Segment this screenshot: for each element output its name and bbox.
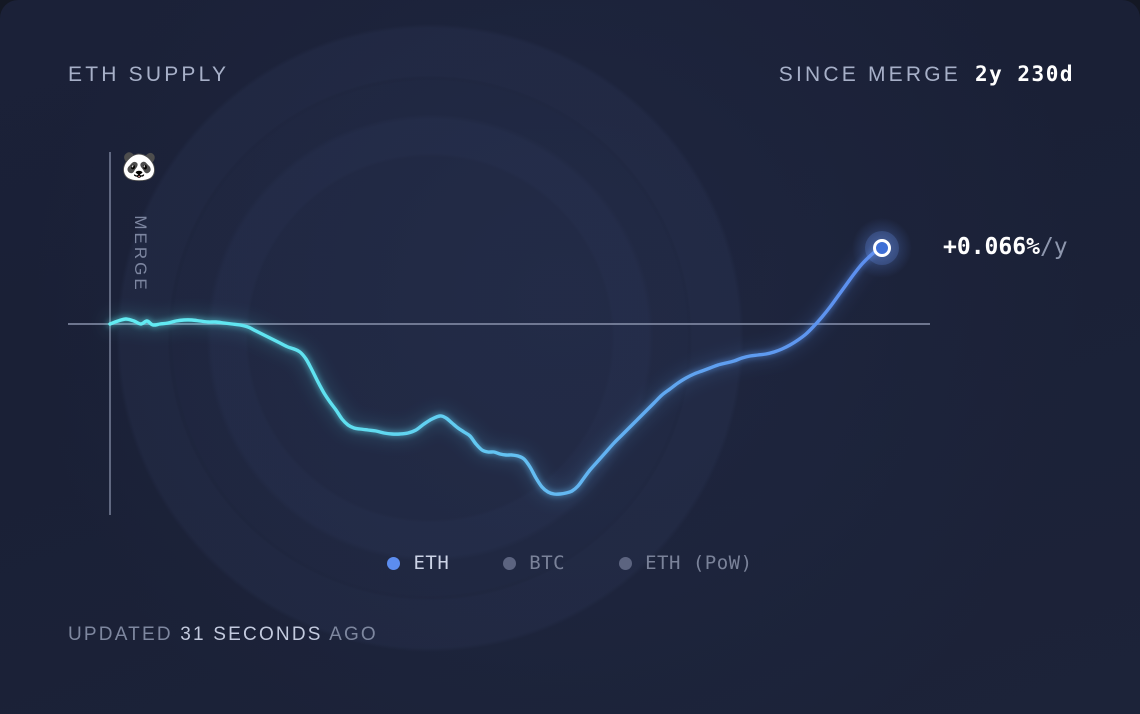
merge-label: MERGE xyxy=(130,204,150,304)
legend-label: BTC xyxy=(529,552,565,574)
since-merge-value: 2y 230d xyxy=(975,62,1074,86)
panda-face-icon: 🐼 xyxy=(121,152,157,181)
endpoint-dot xyxy=(875,241,890,256)
legend-item-eth[interactable]: ETH xyxy=(387,552,449,574)
eth-line-glow-outer xyxy=(110,248,882,494)
legend-dot-icon xyxy=(619,557,632,570)
eth-supply-chart xyxy=(0,0,1140,714)
legend-label: ETH xyxy=(413,552,449,574)
endpoint-halo-outer xyxy=(852,218,912,278)
last-updated-status: UPDATED 31 SECONDS AGO xyxy=(68,624,378,646)
legend-label: ETH (PoW) xyxy=(645,552,752,574)
updated-prefix: UPDATED xyxy=(68,624,173,645)
eth-supply-line xyxy=(110,248,882,494)
endpoint-value-label: +0.066%/y xyxy=(943,234,1068,260)
eth-line-glow-inner xyxy=(110,248,882,494)
endpoint-halo-inner xyxy=(865,231,899,265)
merge-marker: 🐼 MERGE xyxy=(118,152,168,312)
eth-supply-card: ETH SUPPLY SINCE MERGE 2y 230d xyxy=(0,0,1140,714)
endpoint-unit: /y xyxy=(1040,234,1068,260)
legend-dot-icon xyxy=(387,557,400,570)
legend-item-btc[interactable]: BTC xyxy=(503,552,565,574)
updated-value: 31 SECONDS xyxy=(180,624,322,645)
legend-item-eth-pow[interactable]: ETH (PoW) xyxy=(619,552,752,574)
page-title: ETH SUPPLY xyxy=(68,63,229,87)
endpoint-marker[interactable] xyxy=(852,218,912,278)
updated-suffix: AGO xyxy=(329,624,378,645)
card-header: ETH SUPPLY SINCE MERGE 2y 230d xyxy=(68,62,1074,98)
since-merge-group: SINCE MERGE 2y 230d xyxy=(779,62,1074,87)
endpoint-value: +0.066% xyxy=(943,234,1040,260)
chart-legend: ETH BTC ETH (PoW) xyxy=(0,552,1140,574)
legend-dot-icon xyxy=(503,557,516,570)
since-merge-label: SINCE MERGE xyxy=(779,63,961,87)
